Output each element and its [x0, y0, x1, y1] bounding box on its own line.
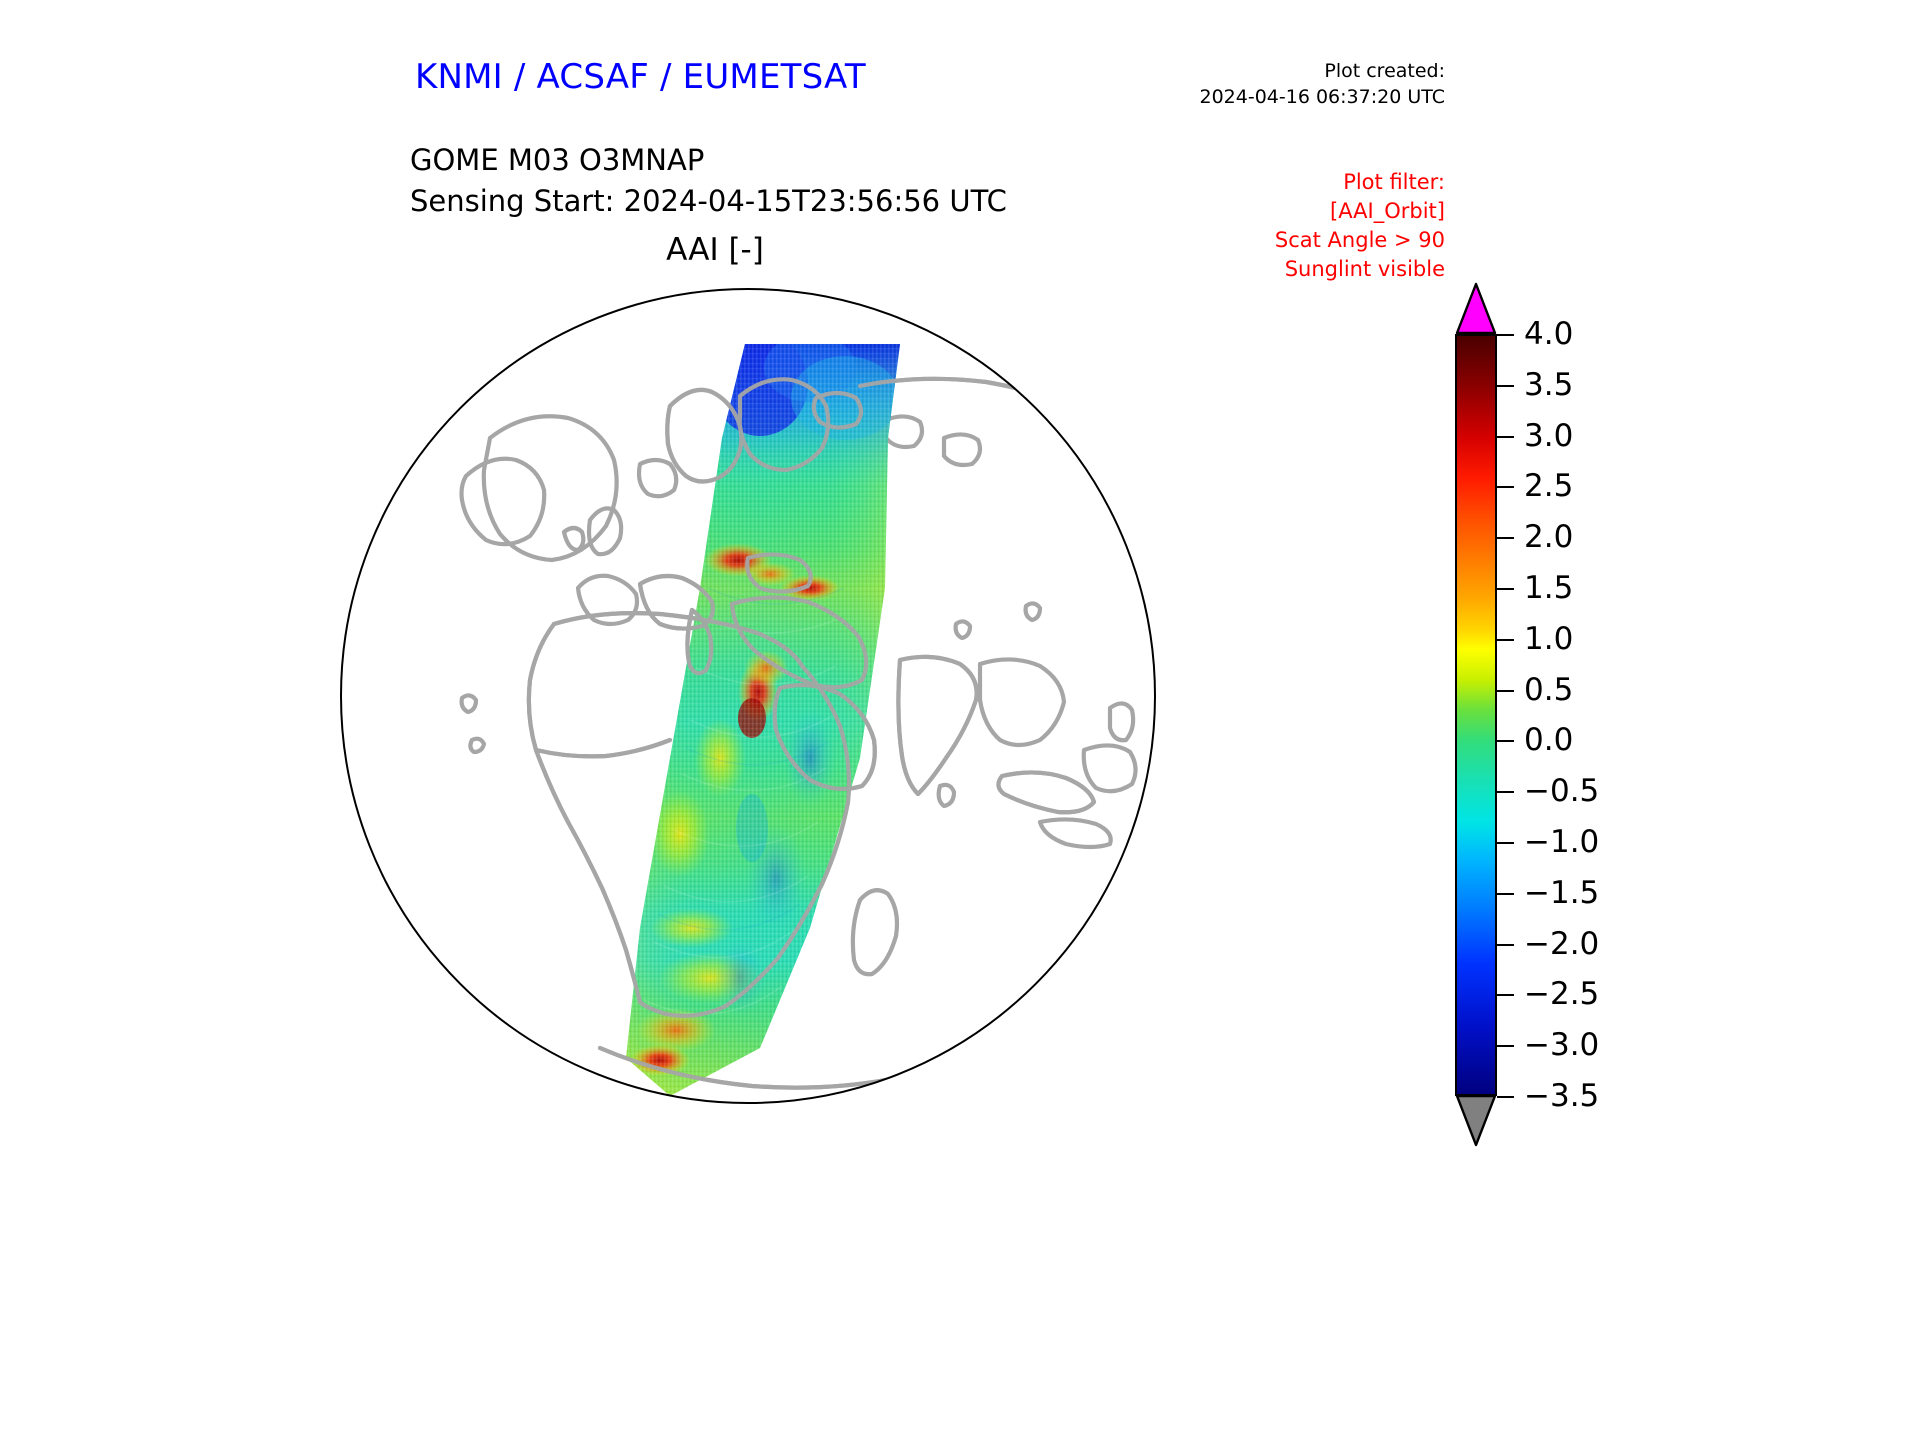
page-title: AAI [-]: [0, 232, 1430, 268]
colorbar-tick-label: 3.5: [1524, 367, 1573, 403]
colorbar-tick: [1497, 486, 1514, 488]
plot-filter-sunglint: Sunglint visible: [1275, 255, 1445, 284]
colorbar-tick: [1497, 537, 1514, 539]
colorbar-tick: [1497, 740, 1514, 742]
colorbar: 4.03.53.02.52.01.51.00.50.0−0.5−1.0−1.5−…: [1432, 282, 1732, 1102]
plot-filter-scat-angle: Scat Angle > 90: [1275, 226, 1445, 255]
colorbar-tick: [1497, 1045, 1514, 1047]
colorbar-tick: [1497, 1096, 1514, 1098]
colorbar-tick-label: 0.0: [1524, 722, 1573, 758]
sensing-start: Sensing Start: 2024-04-15T23:56:56 UTC: [410, 181, 1007, 222]
colorbar-tick: [1497, 690, 1514, 692]
colorbar-tick-label: −1.0: [1524, 824, 1599, 860]
colorbar-tick-label: −1.5: [1524, 875, 1599, 911]
globe-map: [340, 288, 1156, 1104]
colorbar-tick: [1497, 334, 1514, 336]
product-info-block: GOME M03 O3MNAP Sensing Start: 2024-04-1…: [410, 140, 1007, 222]
colorbar-tick: [1497, 791, 1514, 793]
globe-disc: [340, 288, 1156, 1104]
colorbar-over-arrow: [1455, 282, 1497, 335]
colorbar-tick-label: 3.0: [1524, 418, 1573, 454]
colorbar-tick: [1497, 994, 1514, 996]
colorbar-tick: [1497, 893, 1514, 895]
swath-clip-group: [529, 328, 1140, 1104]
colorbar-body: [1455, 334, 1497, 1096]
swath-body: [590, 328, 930, 1104]
plot-filter-block: Plot filter: [AAI_Orbit] Scat Angle > 90…: [1275, 168, 1445, 284]
colorbar-under-arrow: [1455, 1095, 1497, 1147]
plot-created-timestamp: 2024-04-16 06:37:20 UTC: [1200, 84, 1446, 110]
organisation-title: KNMI / ACSAF / EUMETSAT: [415, 57, 866, 97]
colorbar-gradient: [1457, 336, 1495, 1094]
plot-filter-label: Plot filter:: [1275, 168, 1445, 197]
plot-filter-name: [AAI_Orbit]: [1275, 197, 1445, 226]
colorbar-tick-label: −2.0: [1524, 926, 1599, 962]
colorbar-tick: [1497, 588, 1514, 590]
orbit-swath-layer: [340, 288, 1156, 1104]
colorbar-tick-label: 2.0: [1524, 519, 1573, 555]
colorbar-tick: [1497, 639, 1514, 641]
plot-created-label: Plot created:: [1200, 58, 1446, 84]
colorbar-tick: [1497, 385, 1514, 387]
colorbar-tick-label: 4.0: [1524, 316, 1573, 352]
plot-created-block: Plot created: 2024-04-16 06:37:20 UTC: [1200, 58, 1446, 110]
product-name: GOME M03 O3MNAP: [410, 140, 1007, 181]
colorbar-tick-label: −0.5: [1524, 773, 1599, 809]
colorbar-tick-label: 0.5: [1524, 672, 1573, 708]
colorbar-tick: [1497, 842, 1514, 844]
colorbar-tick-label: −3.0: [1524, 1027, 1599, 1063]
colorbar-tick-label: 1.5: [1524, 570, 1573, 606]
colorbar-tick-label: −2.5: [1524, 976, 1599, 1012]
colorbar-tick-label: 2.5: [1524, 468, 1573, 504]
colorbar-tick-label: −3.5: [1524, 1078, 1599, 1114]
colorbar-tick-label: 1.0: [1524, 621, 1573, 657]
colorbar-tick: [1497, 944, 1514, 946]
colorbar-tick: [1497, 436, 1514, 438]
plot-canvas: KNMI / ACSAF / EUMETSAT GOME M03 O3MNAP …: [0, 0, 1920, 1440]
